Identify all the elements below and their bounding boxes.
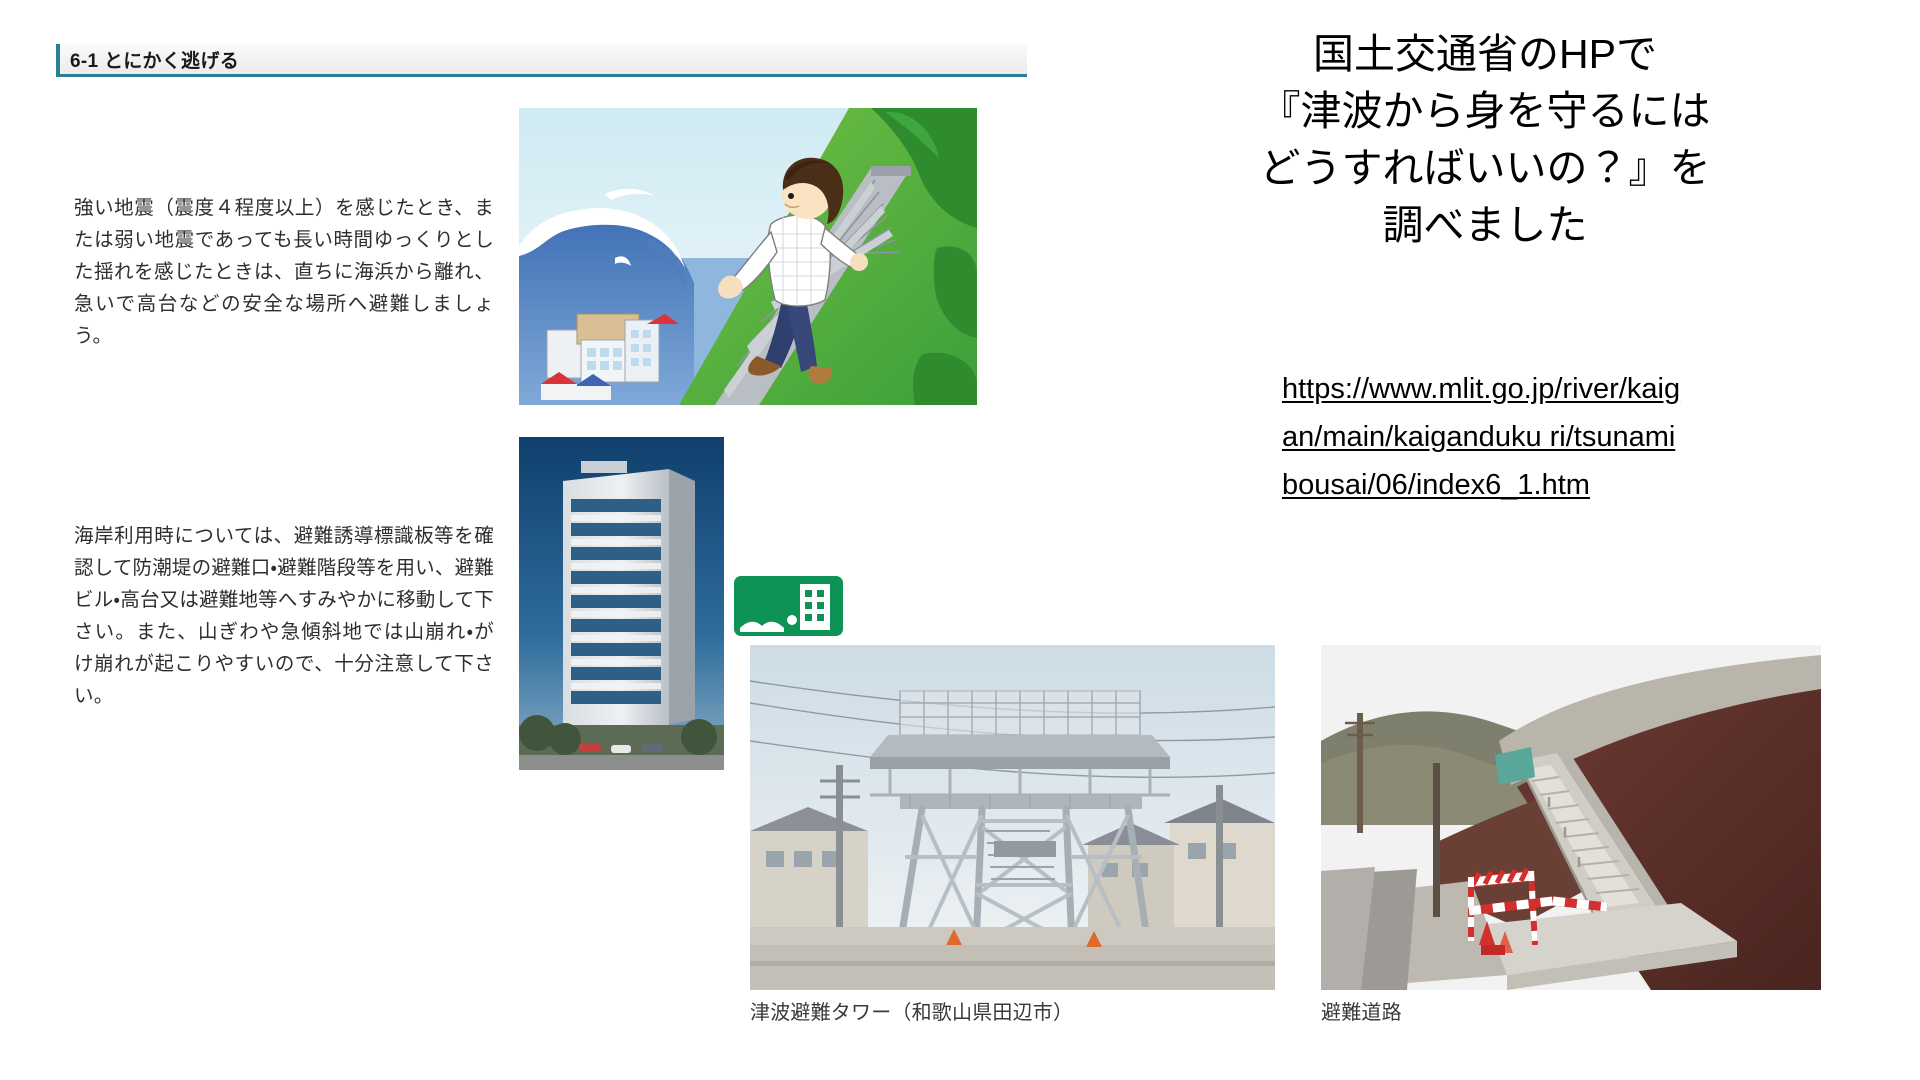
mlit-url-link[interactable]: https://www.mlit.go.jp/river/kaigan/main… (1282, 365, 1682, 509)
photo-evacuation-building (519, 437, 724, 770)
photo-tsunami-evacuation-tower (750, 645, 1275, 990)
heading-line-2: 『津波から身を守るには (1205, 83, 1765, 140)
heading-line-3: どうすればいいの？』を (1205, 140, 1765, 197)
illustration-person-climbing-stairs-tsunami (519, 108, 977, 405)
heading-line-4: 調べました (1205, 197, 1765, 254)
right-panel-heading: 国土交通省のHPで 『津波から身を守るには どうすればいいの？』を 調べました (1205, 26, 1765, 254)
photo-evacuation-road (1321, 645, 1821, 990)
section-header-bar: 6-1 とにかく逃げる (56, 44, 1027, 77)
paragraph-earthquake-warning: 強い地震（震度４程度以上）を感じたとき、または弱い地震であっても長い時間ゆっくり… (74, 192, 494, 352)
tsunami-evacuation-building-sign (732, 574, 845, 638)
section-header-accent (56, 44, 60, 74)
caption-evacuation-road: 避難道路 (1321, 1000, 1402, 1026)
paragraph-coastal-use: 海岸利用時については、避難誘導標識板等を確認して防潮堤の避難口・避難階段等を用い… (74, 520, 494, 712)
heading-line-1: 国土交通省のHPで (1205, 26, 1765, 83)
section-header-title: 6-1 とにかく逃げる (56, 46, 239, 73)
caption-tsunami-evacuation-tower: 津波避難タワー（和歌山県田辺市） (750, 1000, 1073, 1026)
